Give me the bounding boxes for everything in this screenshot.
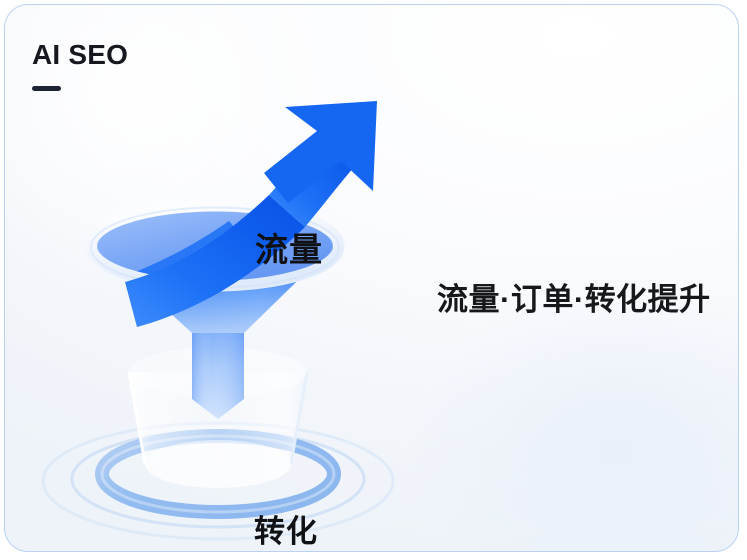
label-conversion: 转化 [254,516,318,547]
illustration-card: AI SEO 流量·订单·转化提升 [4,4,739,552]
tagline-text: 流量·订单·转化提升 [437,282,711,318]
label-traffic: 流量 [255,233,323,266]
page-title: AI SEO [32,41,292,69]
funnel-illustration: 流量 转化 [33,81,453,541]
